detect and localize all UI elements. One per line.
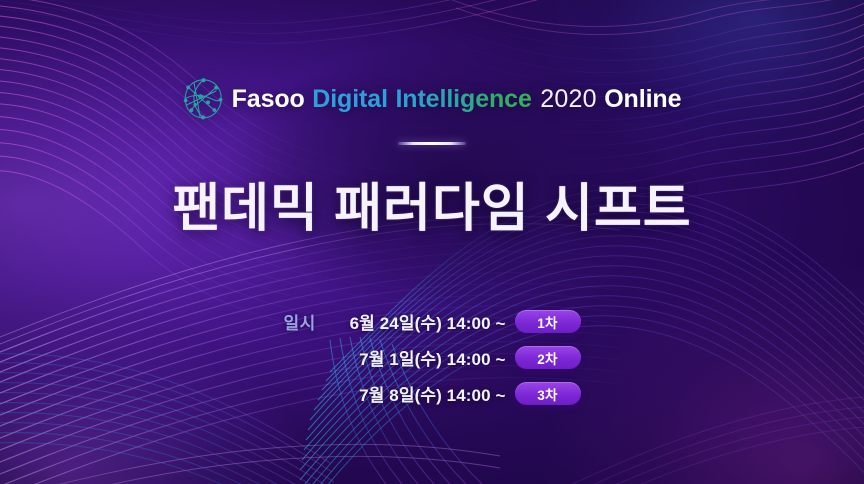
network-globe-icon	[183, 78, 223, 120]
schedule-row: 일시 7월 1일(수) 14:00 ~ 2차	[284, 346, 581, 370]
poster-canvas: Fasoo Digital Intelligence 2020 Online 팬…	[0, 0, 864, 484]
wordmark-intelligence: Intelligence	[395, 87, 531, 112]
schedule-row: 일시 7월 8일(수) 14:00 ~ 3차	[284, 382, 581, 406]
schedule-session-badge: 3차	[515, 382, 581, 405]
schedule-list: 일시 6월 24일(수) 14:00 ~ 1차 일시 7월 1일(수) 14:0…	[284, 310, 581, 406]
wordmark-year: 2020	[540, 87, 596, 112]
schedule-session-badge: 1차	[515, 310, 581, 333]
schedule-session-badge: 2차	[515, 346, 581, 369]
poster-content: Fasoo Digital Intelligence 2020 Online 팬…	[0, 0, 864, 484]
brand-wordmark: Fasoo Digital Intelligence 2020 Online	[232, 87, 682, 112]
schedule-date-text: 6월 24일(수) 14:00 ~	[335, 309, 506, 334]
wordmark-online: Online	[604, 87, 681, 112]
wordmark-fasoo: Fasoo	[232, 87, 305, 112]
schedule-date-text: 7월 8일(수) 14:00 ~	[335, 381, 506, 406]
title-divider	[398, 142, 466, 145]
brand-lockup: Fasoo Digital Intelligence 2020 Online	[183, 78, 682, 120]
page-title: 팬데믹 패러다임 시프트	[172, 166, 691, 241]
schedule-row: 일시 6월 24일(수) 14:00 ~ 1차	[284, 310, 581, 334]
schedule-label: 일시	[284, 309, 326, 334]
schedule-date-text: 7월 1일(수) 14:00 ~	[335, 345, 506, 370]
wordmark-digital: Digital	[312, 87, 388, 112]
